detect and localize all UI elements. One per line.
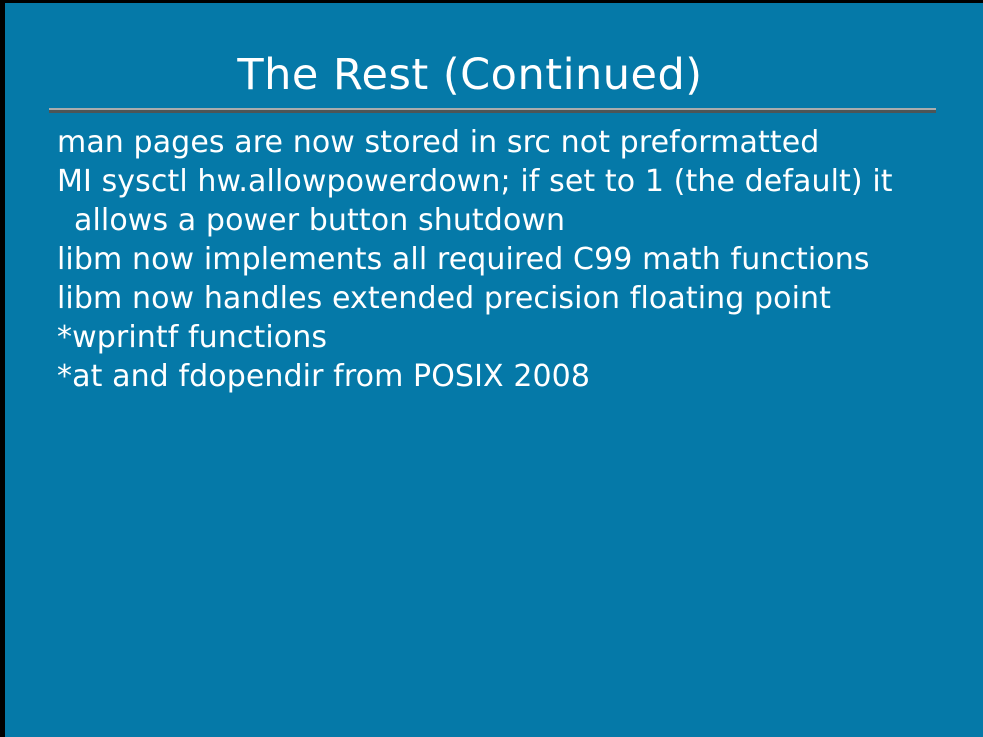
body-line: libm now handles extended precision floa… [57, 279, 957, 318]
body-line: man pages are now stored in src not pref… [57, 123, 957, 162]
title-divider-dark-band [49, 110, 936, 113]
slide-body-text: man pages are now stored in src not pref… [57, 123, 957, 396]
body-line: *at and fdopendir from POSIX 2008 [57, 357, 957, 396]
body-line: MI sysctl hw.allowpowerdown; if set to 1… [57, 162, 957, 201]
presentation-slide: The Rest (Continued) man pages are now s… [0, 0, 983, 737]
title-divider-rule [49, 108, 936, 113]
slide-title-block: The Rest (Continued) [5, 3, 983, 113]
body-line: allows a power button shutdown [57, 201, 957, 240]
body-line: *wprintf functions [57, 318, 957, 357]
slide-title: The Rest (Continued) [5, 48, 935, 102]
body-line: libm now implements all required C99 mat… [57, 240, 957, 279]
